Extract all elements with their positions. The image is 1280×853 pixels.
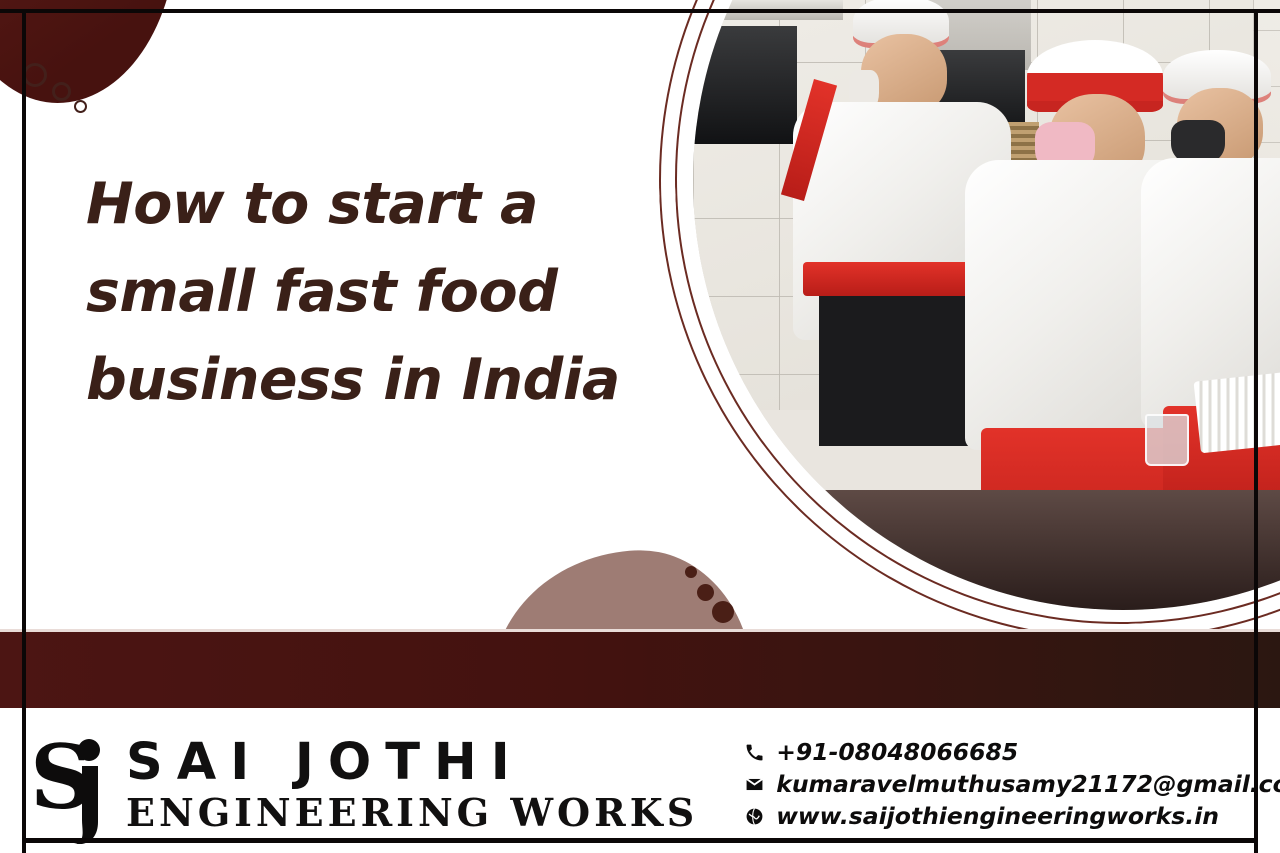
- frame-border-top: [0, 9, 1280, 13]
- decorative-blob-topleft: [0, 0, 177, 103]
- phone-icon: [744, 742, 765, 763]
- company-name-primary: SAI JOTHI: [126, 735, 698, 791]
- phone-number: +91-08048066685: [776, 738, 1018, 767]
- website-icon: [744, 806, 765, 827]
- photo-counter-shadow: [693, 490, 1280, 610]
- email-address: kumaravelmuthusamy21172@gmail.com: [776, 770, 1280, 799]
- decorative-ring-medium: [52, 82, 71, 101]
- restaurant-staff-photo: — — — —— — —— — —— — ——RE 7gHO 10gCHE 7g…: [693, 0, 1280, 610]
- poster-canvas: How to start a small fast food business …: [0, 0, 1280, 853]
- email-icon: [744, 774, 765, 795]
- footer-section: S SAI JOTHI ENGINEERING WORKS: [0, 708, 1280, 853]
- decorative-ring-large: [23, 63, 47, 87]
- headline-line-3: business in India: [86, 336, 586, 424]
- frame-border-left: [22, 9, 26, 853]
- headline-block: How to start a small fast food business …: [86, 160, 586, 424]
- contact-row-phone[interactable]: +91-08048066685: [744, 738, 1280, 767]
- decorative-ring-small: [74, 100, 87, 113]
- contact-row-email[interactable]: kumaravelmuthusamy21172@gmail.com: [744, 770, 1280, 799]
- frame-border-bottom: [22, 838, 1258, 843]
- contact-row-website[interactable]: www.saijothiengineeringworks.in: [744, 802, 1280, 831]
- hero-photo-wrapper: — — — —— — —— — —— — ——RE 7gHO 10gCHE 7g…: [653, 0, 1280, 631]
- brand-block: S SAI JOTHI ENGINEERING WORKS: [26, 726, 698, 844]
- website-url: www.saijothiengineeringworks.in: [776, 802, 1219, 831]
- photo-dark-unit-left: [693, 26, 797, 144]
- frame-border-right: [1254, 9, 1258, 853]
- headline-line-2: small fast food: [86, 248, 586, 336]
- company-name-secondary: ENGINEERING WORKS: [126, 791, 698, 835]
- headline-line-1: How to start a: [86, 160, 586, 248]
- sj-monogram-logo: S: [32, 726, 120, 844]
- photo-napkin-stack: [1194, 371, 1280, 454]
- band-highlight: [0, 629, 1280, 632]
- hero-section: How to start a small fast food business …: [0, 0, 1280, 631]
- contact-block: +91-08048066685 kumaravelmuthusamy21172@…: [744, 738, 1280, 831]
- photo-cup: [1145, 414, 1189, 466]
- divider-band: [0, 631, 1280, 708]
